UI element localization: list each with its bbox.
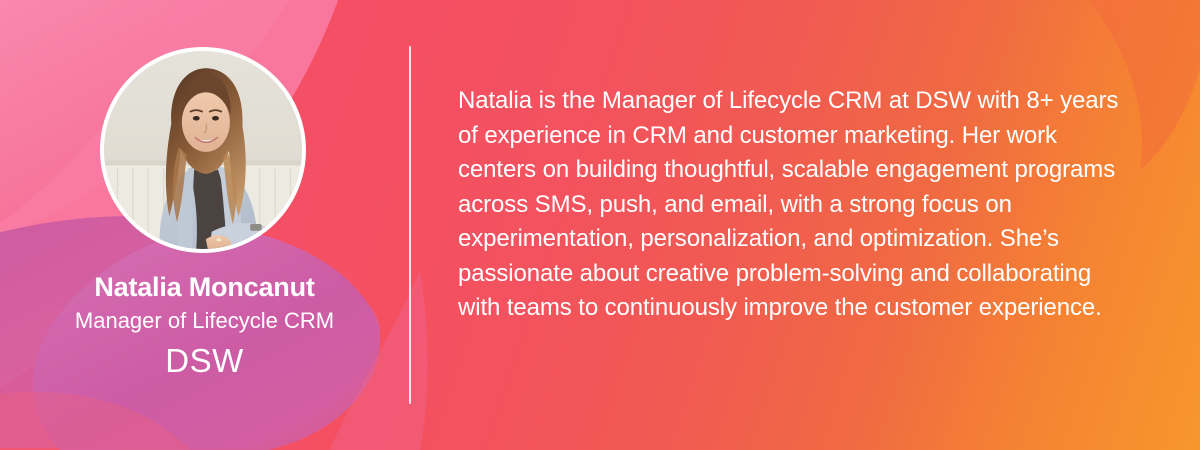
avatar (100, 47, 306, 253)
avatar-portrait (104, 51, 302, 249)
vertical-divider (409, 46, 411, 404)
speaker-title: Manager of Lifecycle CRM (0, 307, 409, 335)
speaker-company: DSW (0, 341, 409, 381)
speaker-name: Natalia Moncanut (0, 271, 409, 303)
speaker-bio-card: Natalia Moncanut Manager of Lifecycle CR… (0, 0, 1200, 450)
speaker-bio-text: Natalia is the Manager of Lifecycle CRM … (458, 84, 1138, 326)
speaker-identity-panel: Natalia Moncanut Manager of Lifecycle CR… (0, 0, 409, 450)
